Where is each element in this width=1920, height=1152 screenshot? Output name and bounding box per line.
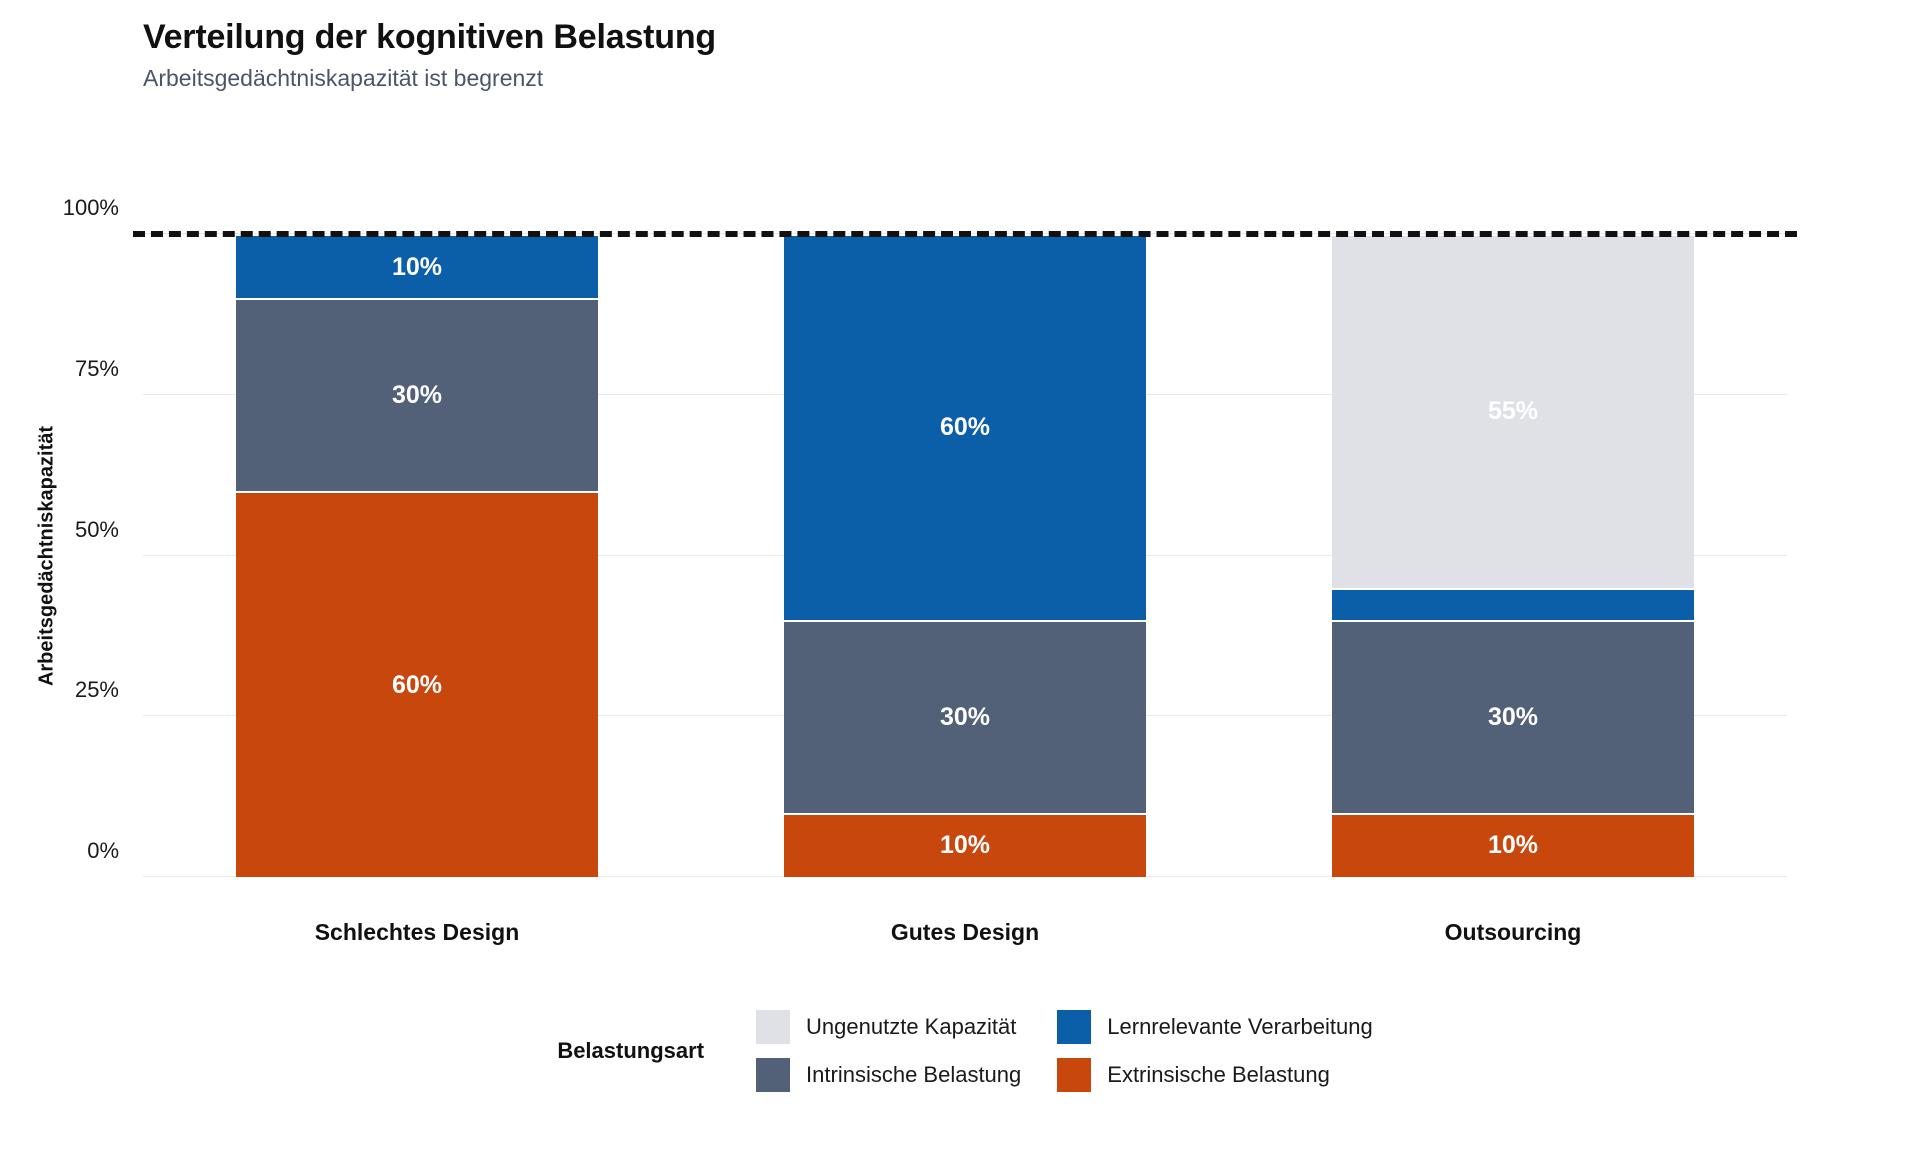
legend-title: Belastungsart — [557, 1038, 704, 1064]
bar-segment[interactable]: 10% — [784, 813, 1146, 877]
bar-segment-label: 30% — [392, 383, 442, 408]
y-axis-tick-label: 100% — [63, 195, 119, 221]
x-axis-tick-label: Outsourcing — [1332, 919, 1694, 946]
bar-segment-label: 10% — [940, 833, 990, 858]
bar-stack: 60%30%10% — [236, 234, 598, 877]
bar-segment[interactable]: 30% — [784, 620, 1146, 813]
chart-subtitle: Arbeitsgedächtniskapazität ist begrenzt — [143, 65, 1843, 93]
legend-label: Lernrelevante Verarbeitung — [1107, 1014, 1372, 1040]
y-axis-tick-label: 50% — [75, 517, 119, 543]
y-axis-tick-label: 75% — [75, 356, 119, 382]
bar-segment-label: 10% — [1488, 833, 1538, 858]
bar-segment-label: 60% — [940, 415, 990, 440]
legend-items: Ungenutzte KapazitätLernrelevante Verarb… — [756, 1010, 1373, 1092]
bar-segment[interactable]: 10% — [1332, 813, 1694, 877]
bar-segment[interactable]: 55% — [1332, 234, 1694, 588]
legend-entry[interactable]: Ungenutzte Kapazität — [756, 1010, 1021, 1044]
bar-segment[interactable]: 30% — [236, 298, 598, 491]
bar-segment[interactable]: 60% — [236, 491, 598, 877]
plot-area: Arbeitsgedächtniskapazität 0%25%50%75%10… — [143, 234, 1787, 877]
bar-group: 10%30%60%Gutes Design — [784, 234, 1146, 877]
bar-segment[interactable]: 30% — [1332, 620, 1694, 813]
legend-entry[interactable]: Lernrelevante Verarbeitung — [1057, 1010, 1372, 1044]
legend-entry[interactable]: Extrinsische Belastung — [1057, 1058, 1372, 1092]
bar-segment[interactable] — [1332, 588, 1694, 620]
legend-swatch-icon — [756, 1010, 790, 1044]
x-axis-tick-label: Schlechtes Design — [236, 919, 598, 946]
legend-label: Extrinsische Belastung — [1107, 1062, 1330, 1088]
legend-entry[interactable]: Intrinsische Belastung — [756, 1058, 1021, 1092]
bar-segment[interactable]: 10% — [236, 234, 598, 298]
bar-segment-label: 30% — [940, 705, 990, 730]
legend-label: Ungenutzte Kapazität — [806, 1014, 1016, 1040]
legend-swatch-icon — [756, 1058, 790, 1092]
bar-group: 10%30%55%Outsourcing — [1332, 234, 1694, 877]
y-axis-title: Arbeitsgedächtniskapazität — [36, 346, 59, 766]
chart-legend: Belastungsart Ungenutzte KapazitätLernre… — [143, 1010, 1787, 1092]
chart-header: Verteilung der kognitiven Belastung Arbe… — [143, 18, 1843, 93]
bar-stack: 10%30%60% — [784, 234, 1146, 877]
y-axis-tick-label: 0% — [87, 838, 119, 864]
bar-group: 60%30%10%Schlechtes Design — [236, 234, 598, 877]
x-axis-tick-label: Gutes Design — [784, 919, 1146, 946]
legend-swatch-icon — [1057, 1058, 1091, 1092]
bar-segment-label: 55% — [1488, 399, 1538, 424]
chart-title: Verteilung der kognitiven Belastung — [143, 18, 1843, 57]
bar-segment-label: 30% — [1488, 705, 1538, 730]
bar-segment-label: 60% — [392, 673, 442, 698]
legend-swatch-icon — [1057, 1010, 1091, 1044]
bar-segment[interactable]: 60% — [784, 234, 1146, 620]
capacity-reference-line — [133, 231, 1797, 237]
bar-segment-label: 10% — [392, 255, 442, 280]
legend-label: Intrinsische Belastung — [806, 1062, 1021, 1088]
y-axis-tick-label: 25% — [75, 677, 119, 703]
bar-stack: 10%30%55% — [1332, 234, 1694, 877]
